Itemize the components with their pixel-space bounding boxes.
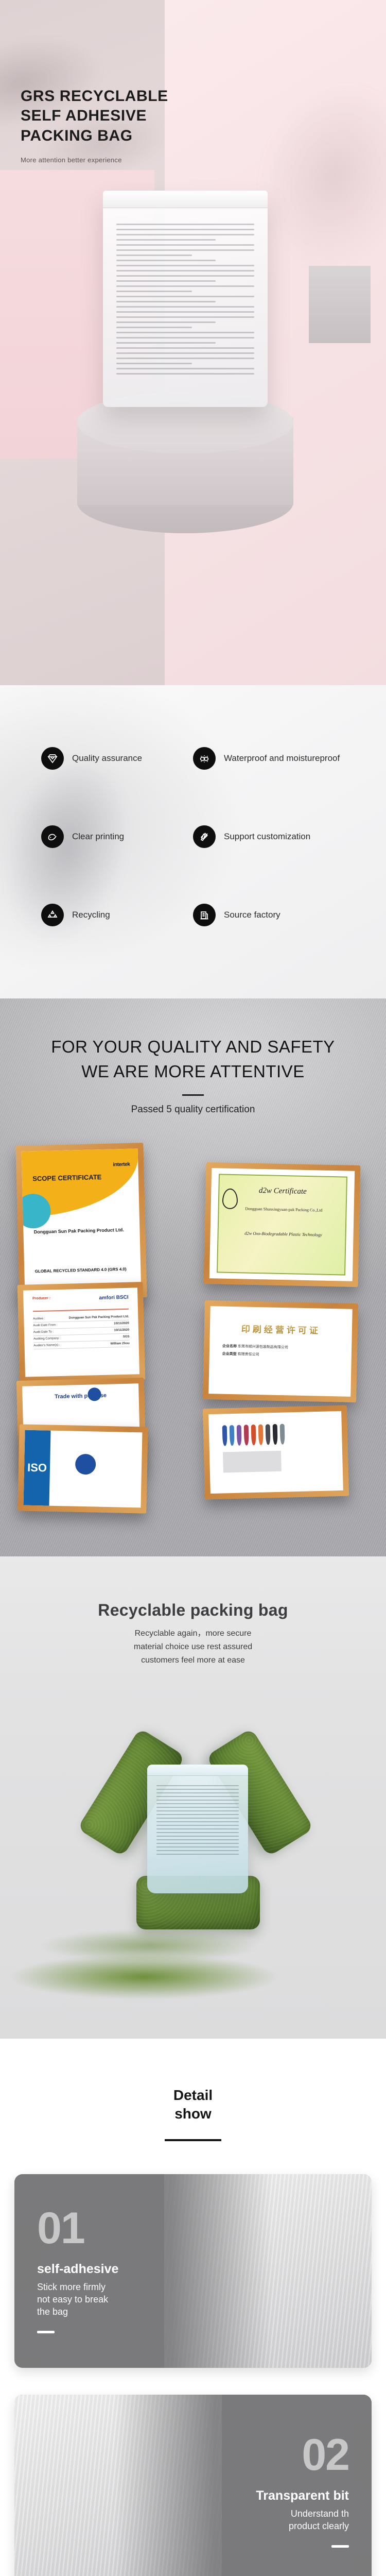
feature-label: Recycling (72, 909, 110, 921)
detail-card-desc-line-2: not easy to break (37, 2293, 108, 2306)
detail-card-desc-line-1: Understand th (289, 2507, 349, 2520)
detail-show-title-line-2: show (0, 2105, 386, 2123)
recyclable-subtitle-line-2: material choice use rest assured (0, 1640, 386, 1654)
certificate-frame-amfori-audit[interactable]: Producer : amfori BSCI Auditee :Dongguan… (17, 1282, 146, 1383)
detail-card-description: Understand th product clearly (289, 2507, 349, 2533)
recyclable-subtitle: Recyclable again，more secure material ch… (0, 1627, 386, 1668)
hero-text-block: GRS RECYCLABLE SELF ADHESIVE PACKING BAG… (21, 87, 168, 164)
certificate-frame-color-swatch[interactable] (203, 1405, 349, 1499)
intertek-logo: intertek (113, 1161, 130, 1167)
detail-show-header: Detail show (0, 2039, 386, 2174)
iso-side-label: ISO (23, 1430, 50, 1505)
pencil-ruler-icon (193, 825, 216, 848)
detail-show-divider (165, 2139, 221, 2141)
hero-title-line-1: GRS RECYCLABLE (21, 87, 168, 106)
certificate-frame-scope[interactable]: SCOPE CERTIFICATE intertek Dongguan Sun … (15, 1143, 147, 1300)
certification-heading-block: FOR YOUR QUALITY AND SAFETY WE ARE MORE … (0, 1035, 386, 1115)
certificate-frame-d2w[interactable]: d2w Certificate Dongguan Shunxingyuan-pa… (204, 1162, 361, 1287)
certificate-image-iso: ISO (23, 1430, 142, 1507)
scope-organization: Dongguan Sun Pak Packing Product Ltd. (34, 1226, 124, 1236)
printer-brush-icon (41, 825, 64, 848)
iso-seal-icon (75, 1453, 96, 1475)
feature-label: Quality assurance (72, 753, 142, 764)
amfori-seal-icon (87, 1387, 101, 1401)
feature-item-quality-assurance: Quality assurance (41, 747, 193, 770)
feature-label: Support customization (224, 831, 310, 842)
certificate-wall: SCOPE CERTIFICATE intertek Dongguan Sun … (0, 1139, 386, 1520)
feature-label: Source factory (224, 909, 280, 921)
heading-divider (182, 1094, 204, 1096)
waterdrop-icon (193, 747, 216, 770)
feature-item-recycling: Recycling (41, 904, 193, 926)
bag-printed-text (156, 1785, 239, 1857)
certificate-image-printing-license: 印刷经营许可证 企业名称 东莞市顺兴源包装制品有限公司 企业类型 有限责任公司 (208, 1306, 352, 1397)
bag-printed-text (116, 224, 254, 378)
moss-ground-shadow (0, 1946, 386, 2008)
certificate-image-amfori-audit: Producer : amfori BSCI Auditee :Dongguan… (23, 1287, 139, 1377)
detail-card-body: 01 self-adhesive Stick more firmly not e… (14, 2174, 236, 2368)
feature-item-support-customization: Support customization (193, 825, 345, 848)
detail-cards-list: 01 self-adhesive Stick more firmly not e… (0, 2174, 386, 2576)
certification-subheading: Passed 5 quality certification (0, 1104, 386, 1115)
amfori-tagline: Trade with purpose (22, 1392, 138, 1401)
factory-icon (193, 904, 216, 926)
recycle-illustration (0, 1683, 386, 2039)
scope-title: SCOPE CERTIFICATE (32, 1174, 101, 1183)
detail-card-desc-line-1: Stick more firmly (37, 2281, 108, 2293)
color-swatch-strip (222, 1422, 334, 1445)
feature-item-clear-printing: Clear printing (41, 825, 193, 848)
printing-license-rows: 企业名称 东莞市顺兴源包装制品有限公司 企业类型 有限责任公司 (222, 1343, 339, 1361)
features-grid: Quality assurance Waterproof and moistur… (0, 747, 386, 926)
diamond-icon (41, 747, 64, 770)
detail-card-underline (37, 2331, 55, 2333)
detail-card-underline (331, 2545, 349, 2548)
detail-card-body: 02 Transparent bit Understand th product… (150, 2395, 372, 2576)
certification-heading-line-2: WE ARE MORE ATTENTIVE (0, 1059, 386, 1084)
certificate-image-scope: SCOPE CERTIFICATE intertek Dongguan Sun … (22, 1148, 142, 1294)
product-bag-image (103, 191, 268, 407)
printing-license-title: 印刷经营许可证 (210, 1321, 352, 1337)
bag-seal-strip (103, 191, 268, 208)
amfori-divider (33, 1309, 129, 1312)
certificate-frame-printing-license[interactable]: 印刷经营许可证 企业名称 东莞市顺兴源包装制品有限公司 企业类型 有限责任公司 (203, 1300, 358, 1402)
recyclable-subtitle-line-3: customers feel more at ease (0, 1654, 386, 1667)
gray-accent-card (309, 266, 371, 343)
feature-item-source-factory: Source factory (193, 904, 345, 926)
feature-item-waterproof: Waterproof and moistureproof (193, 747, 345, 770)
detail-card-title: self-adhesive (37, 2262, 118, 2277)
recycle-icon (41, 904, 64, 926)
recyclable-title: Recyclable packing bag (0, 1601, 386, 1620)
detail-card-desc-line-2: product clearly (289, 2520, 349, 2532)
hero-title: GRS RECYCLABLE SELF ADHESIVE PACKING BAG (21, 87, 168, 146)
detail-card-description: Stick more firmly not easy to break the … (37, 2281, 108, 2318)
product-display-stage (0, 170, 386, 531)
detail-card-desc-line-3: the bag (37, 2306, 108, 2318)
hero-banner: GRS RECYCLABLE SELF ADHESIVE PACKING BAG… (0, 0, 386, 685)
quality-certification-section: FOR YOUR QUALITY AND SAFETY WE ARE MORE … (0, 998, 386, 1556)
certificate-frame-iso[interactable]: ISO (17, 1424, 148, 1513)
amfori-logo: amfori BSCI (99, 1295, 128, 1301)
detail-show-title-line-1: Detail (0, 2086, 386, 2105)
bag-seal-strip (147, 1765, 248, 1776)
amfori-audit-table: Auditee :Dongguan Sun Pak Packing Produc… (33, 1314, 130, 1350)
detail-card-number: 01 (37, 2209, 84, 2248)
amfori-producer-label: Producer : (32, 1297, 50, 1301)
hero-title-line-3: PACKING BAG (21, 126, 168, 146)
feature-label: Clear printing (72, 831, 124, 842)
features-section: Quality assurance Waterproof and moistur… (0, 685, 386, 998)
certificate-image-color-swatch (208, 1411, 343, 1494)
certificate-image-d2w: d2w Certificate Dongguan Shunxingyuan-pa… (209, 1168, 355, 1281)
detail-card-title: Transparent bit (256, 2488, 349, 2503)
detail-card-01[interactable]: 01 self-adhesive Stick more firmly not e… (14, 2174, 372, 2368)
hero-title-line-2: SELF ADHESIVE (21, 106, 168, 126)
certification-heading-line-1: FOR YOUR QUALITY AND SAFETY (0, 1035, 386, 1059)
hero-subtitle: More attention better experience (21, 156, 168, 164)
feature-label: Waterproof and moistureproof (224, 753, 340, 764)
scope-standard: GLOBAL RECYCLED STANDARD 4.0 (GRS 4.0) (35, 1266, 127, 1274)
detail-card-02[interactable]: 02 Transparent bit Understand th product… (14, 2395, 372, 2576)
recyclable-section: Recyclable packing bag Recyclable again，… (0, 1556, 386, 2039)
detail-card-number: 02 (302, 2435, 349, 2475)
color-swatch-text-block (223, 1450, 282, 1472)
recyclable-subtitle-line-1: Recyclable again，more secure (0, 1627, 386, 1640)
